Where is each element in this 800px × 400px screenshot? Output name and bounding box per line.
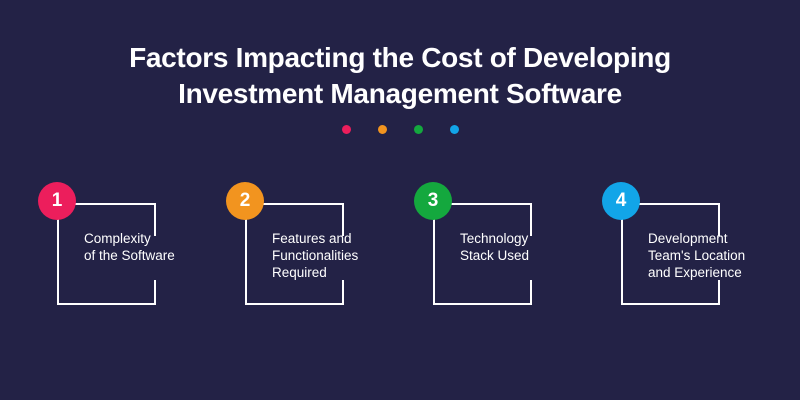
card-frame-left xyxy=(57,215,59,305)
card-frame-bottom xyxy=(57,303,156,305)
card-frame-right-bottom xyxy=(342,280,344,305)
factor-card: 1 Complexity of the Software xyxy=(38,170,228,320)
card-frame-bottom xyxy=(245,303,344,305)
card-text-line: Functionalities xyxy=(272,247,422,264)
card-number-badge: 1 xyxy=(38,182,76,220)
card-frame-right-bottom xyxy=(530,280,532,305)
card-text: Complexity of the Software xyxy=(84,230,234,264)
dot-orange-icon xyxy=(378,125,387,134)
factor-card: 2 Features and Functionalities Required xyxy=(226,170,416,320)
card-frame-right-bottom xyxy=(154,280,156,305)
card-frame-left xyxy=(433,215,435,305)
card-text-line: of the Software xyxy=(84,247,234,264)
card-frame-bottom xyxy=(621,303,720,305)
dot-green-icon xyxy=(414,125,423,134)
card-text: Features and Functionalities Required xyxy=(272,230,422,281)
card-text-line: Required xyxy=(272,264,422,281)
dot-blue-icon xyxy=(450,125,459,134)
infographic-canvas: Factors Impacting the Cost of Developing… xyxy=(0,0,800,400)
card-text: Technology Stack Used xyxy=(460,230,610,264)
card-text: Development Team's Location and Experien… xyxy=(648,230,798,281)
page-title: Factors Impacting the Cost of Developing… xyxy=(0,40,800,112)
card-frame-bottom xyxy=(433,303,532,305)
page-title-line-1: Factors Impacting the Cost of Developing xyxy=(0,40,800,76)
card-text-line: and Experience xyxy=(648,264,798,281)
card-text-line: Technology xyxy=(460,230,610,247)
factor-card-list: 1 Complexity of the Software 2 Features … xyxy=(0,170,800,330)
card-frame-left xyxy=(621,215,623,305)
dot-pink-icon xyxy=(342,125,351,134)
card-text-line: Complexity xyxy=(84,230,234,247)
card-number-badge: 3 xyxy=(414,182,452,220)
card-frame-left xyxy=(245,215,247,305)
card-frame-right-bottom xyxy=(718,280,720,305)
dot-separator xyxy=(0,125,800,134)
card-number-badge: 4 xyxy=(602,182,640,220)
card-number-badge: 2 xyxy=(226,182,264,220)
card-text-line: Development xyxy=(648,230,798,247)
page-title-line-2: Investment Management Software xyxy=(0,76,800,112)
factor-card: 4 Development Team's Location and Experi… xyxy=(602,170,792,320)
card-text-line: Features and xyxy=(272,230,422,247)
card-text-line: Stack Used xyxy=(460,247,610,264)
card-text-line: Team's Location xyxy=(648,247,798,264)
factor-card: 3 Technology Stack Used xyxy=(414,170,604,320)
